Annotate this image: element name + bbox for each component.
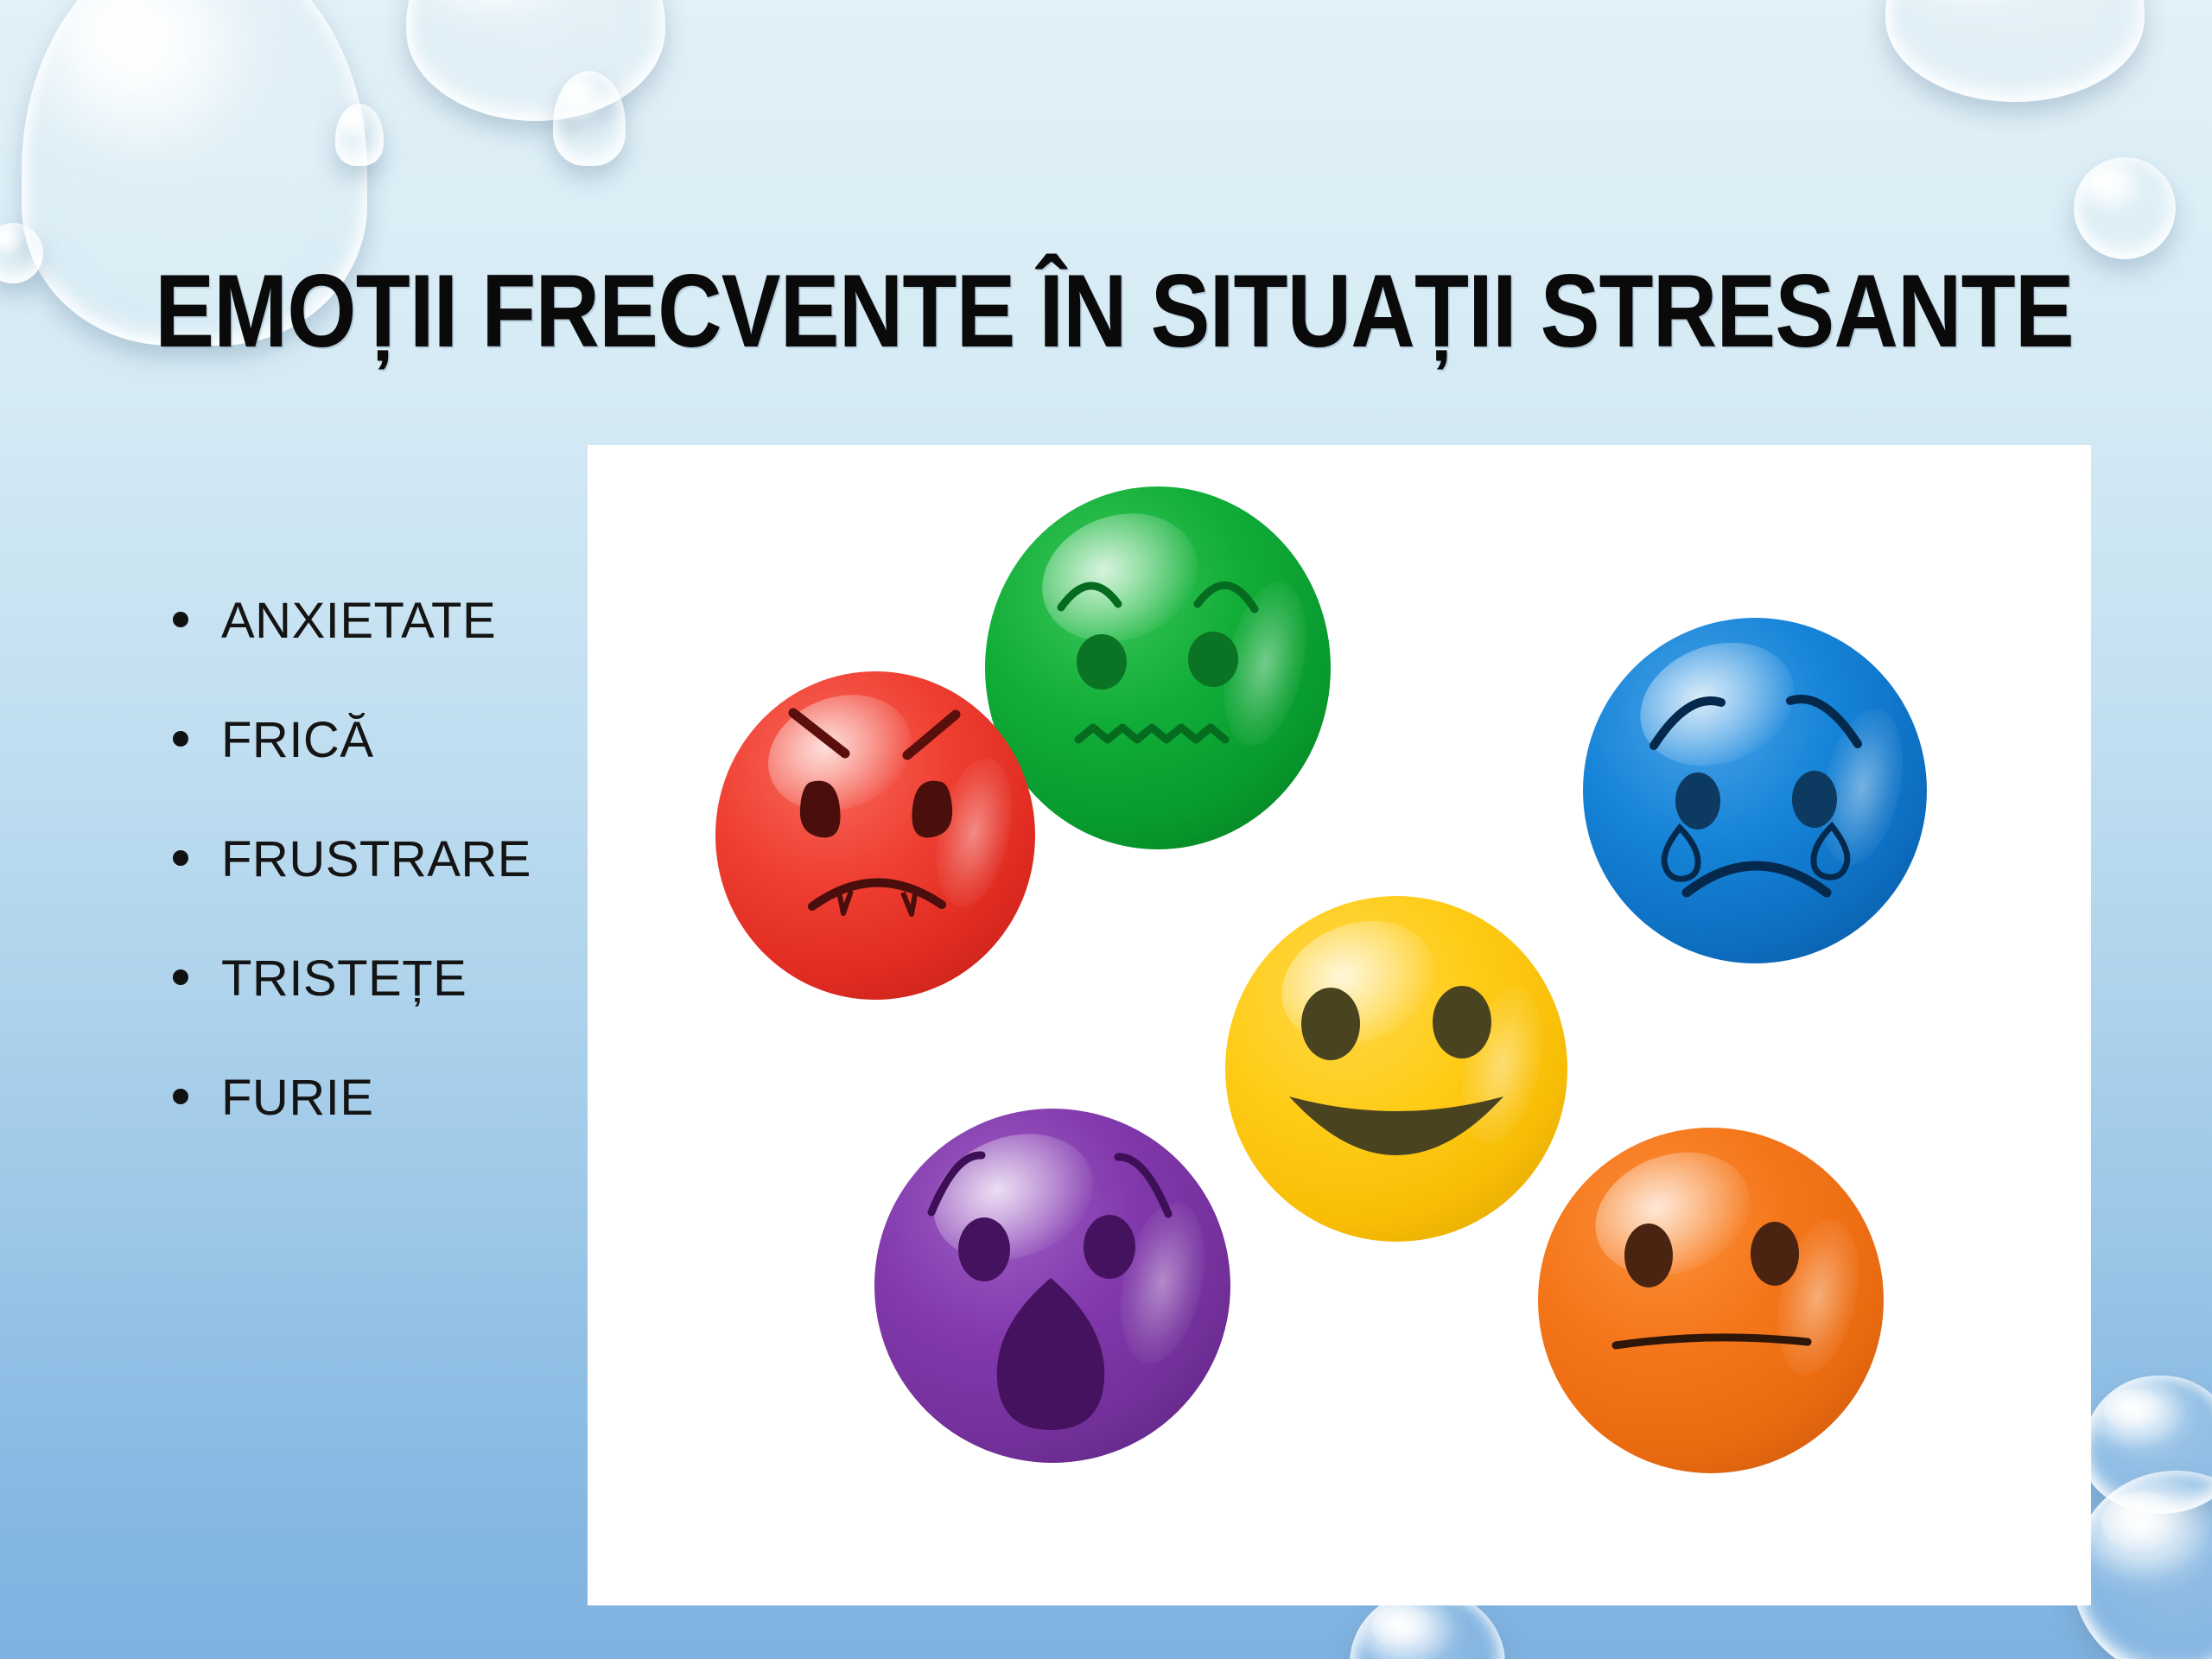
bullet-dot-icon (173, 612, 188, 627)
surprised-face-icon (874, 1109, 1230, 1463)
purple-surprised-ball (874, 1109, 1230, 1463)
yellow-happy-ball (1225, 896, 1567, 1242)
emotion-balls-image (588, 445, 2091, 1605)
green-worried-ball (985, 486, 1331, 849)
bullet-dot-icon (173, 1089, 188, 1104)
droplet-bottom-right-b (2072, 1471, 2212, 1659)
emotion-bullet-list: ANXIETATE FRICĂ FRUSTRARE TRISTEȚE FURIE (173, 596, 579, 1192)
droplet-top-mid-medium (406, 0, 665, 121)
blue-crying-ball (1583, 618, 1927, 963)
bullet-dot-icon (173, 969, 188, 985)
bullet-label-frustrare: FRUSTRARE (221, 835, 531, 885)
bullet-label-anxietate: ANXIETATE (221, 596, 496, 646)
neutral-face-icon (1538, 1128, 1884, 1473)
slide-title: EMOȚII FRECVENTE ÎN SITUAȚII STRESANTE (155, 259, 2057, 363)
red-angry-ball (715, 671, 1035, 1000)
bullet-label-furie: FURIE (221, 1073, 374, 1123)
droplet-bottom-right-a (2082, 1376, 2212, 1514)
list-item: FRUSTRARE (173, 835, 579, 885)
droplet-top-left-small (335, 104, 384, 166)
bullet-dot-icon (173, 850, 188, 866)
droplet-top-mid-oval (553, 71, 626, 166)
bullet-dot-icon (173, 731, 188, 747)
list-item: FURIE (173, 1073, 579, 1123)
bullet-label-tristete: TRISTEȚE (221, 954, 467, 1004)
list-item: ANXIETATE (173, 596, 579, 646)
angry-face-icon (715, 671, 1035, 1000)
slide-canvas: EMOȚII FRECVENTE ÎN SITUAȚII STRESANTE A… (0, 0, 2212, 1659)
droplet-top-right-large (1885, 0, 2145, 102)
happy-face-icon (1225, 896, 1567, 1242)
bullet-label-frica: FRICĂ (221, 715, 374, 766)
orange-neutral-ball (1538, 1128, 1884, 1473)
worried-face-icon (985, 486, 1331, 849)
list-item: TRISTEȚE (173, 954, 579, 1004)
droplet-top-right-small (2074, 157, 2176, 259)
crying-face-icon (1583, 618, 1927, 963)
list-item: FRICĂ (173, 715, 579, 766)
droplet-left-edge-tiny (0, 223, 43, 283)
